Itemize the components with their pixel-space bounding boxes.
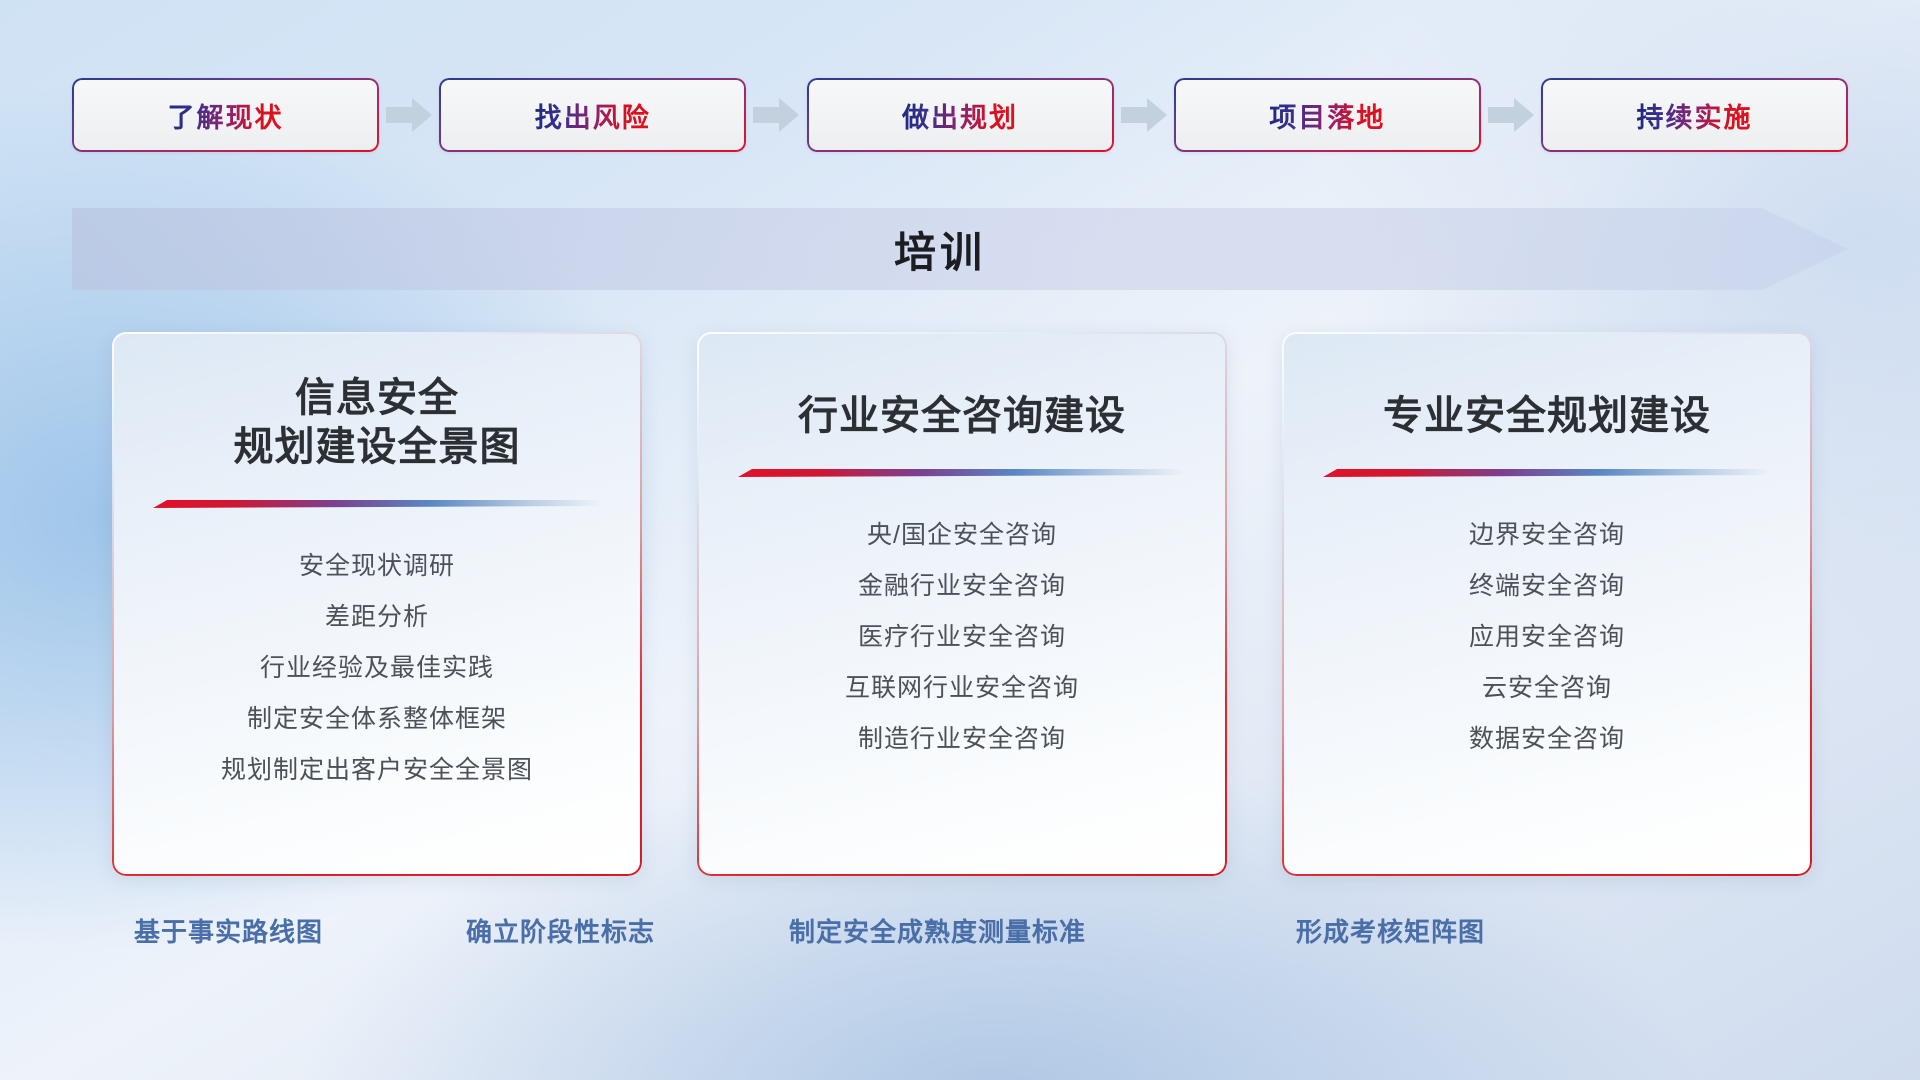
list-item: 终端安全咨询 (1469, 561, 1625, 611)
step-arrow-2 (746, 98, 806, 132)
card-1-list: 安全现状调研 差距分析 行业经验及最佳实践 制定安全体系整体框架 规划制定出客户… (138, 541, 616, 795)
banner-title: 培训 (72, 208, 1848, 290)
list-item: 制造行业安全咨询 (858, 714, 1066, 764)
step-box-3[interactable]: 做出规划 (807, 78, 1114, 152)
list-item: 金融行业安全咨询 (858, 561, 1066, 611)
list-item: 云安全咨询 (1482, 663, 1612, 713)
card-2[interactable]: 行业安全咨询建设 (697, 332, 1227, 876)
step-label-2: 找出风险 (535, 96, 651, 135)
card-3-divider (1323, 467, 1771, 478)
footer-label-row: 基于事实路线图 确立阶段性标志 制定安全成熟度测量标准 形成考核矩阵图 (0, 912, 1920, 968)
process-step-flow: 了解现状 找出风险 做出规划 项目落地 (72, 78, 1848, 152)
infographic-canvas: 了解现状 找出风险 做出规划 项目落地 (0, 0, 1920, 1080)
list-item: 安全现状调研 (299, 541, 455, 591)
list-item: 医疗行业安全咨询 (858, 612, 1066, 662)
step-box-2[interactable]: 找出风险 (439, 78, 746, 152)
footer-label-1: 基于事实路线图 (134, 912, 323, 952)
list-item: 制定安全体系整体框架 (247, 694, 507, 744)
footer-label-4: 形成考核矩阵图 (1296, 912, 1485, 952)
card-2-list: 央/国企安全咨询 金融行业安全咨询 医疗行业安全咨询 互联网行业安全咨询 制造行… (723, 510, 1201, 764)
footer-label-3: 制定安全成熟度测量标准 (789, 912, 1086, 952)
training-banner: 培训 (72, 208, 1848, 290)
step-arrow-4 (1481, 98, 1541, 132)
step-arrow-3 (1114, 98, 1174, 132)
step-arrow-1 (379, 98, 439, 132)
step-box-1[interactable]: 了解现状 (72, 78, 379, 152)
list-item: 规划制定出客户安全全景图 (221, 745, 533, 795)
card-2-divider (738, 467, 1186, 478)
list-item: 央/国企安全咨询 (867, 510, 1057, 560)
list-item: 应用安全咨询 (1469, 612, 1625, 662)
card-1[interactable]: 信息安全 规划建设全景图 (112, 332, 642, 876)
card-3-title: 专业安全规划建设 (1383, 374, 1711, 441)
footer-label-2: 确立阶段性标志 (466, 912, 655, 952)
card-1-title: 信息安全 规划建设全景图 (234, 374, 521, 472)
list-item: 数据安全咨询 (1469, 714, 1625, 764)
list-item: 边界安全咨询 (1469, 510, 1625, 560)
card-1-divider (153, 498, 601, 509)
step-box-4[interactable]: 项目落地 (1174, 78, 1481, 152)
step-box-5[interactable]: 持续实施 (1541, 78, 1848, 152)
step-label-3: 做出规划 (902, 96, 1018, 135)
card-3-list: 边界安全咨询 终端安全咨询 应用安全咨询 云安全咨询 数据安全咨询 (1308, 510, 1786, 764)
card-3[interactable]: 专业安全规划建设 (1282, 332, 1812, 876)
step-label-4: 项目落地 (1269, 96, 1385, 135)
step-label-1: 了解现状 (168, 96, 284, 135)
step-label-5: 持续实施 (1637, 96, 1753, 135)
list-item: 行业经验及最佳实践 (260, 643, 494, 693)
card-2-title: 行业安全咨询建设 (798, 374, 1126, 441)
list-item: 互联网行业安全咨询 (845, 663, 1079, 713)
card-row: 信息安全 规划建设全景图 (112, 332, 1812, 876)
list-item: 差距分析 (325, 592, 429, 642)
